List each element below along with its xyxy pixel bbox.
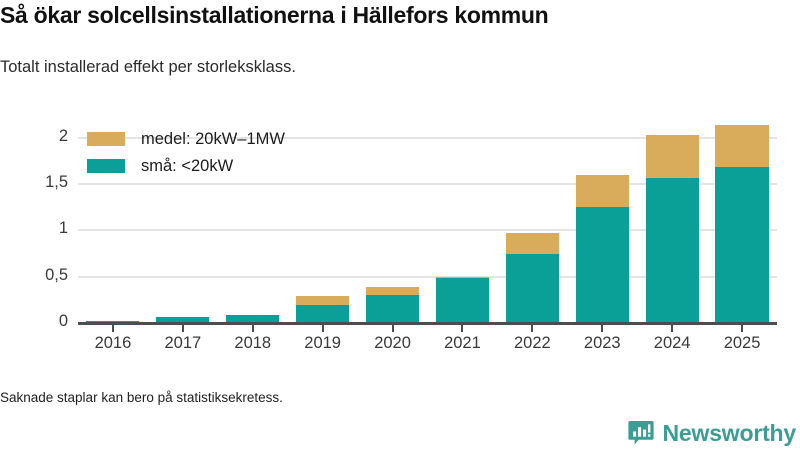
bar-chart-bubble-icon bbox=[628, 420, 654, 446]
bar-segment-sma[interactable] bbox=[366, 295, 419, 322]
bar-segment-sma[interactable] bbox=[576, 207, 629, 322]
bar-segment-sma[interactable] bbox=[226, 315, 279, 322]
y-axis-tick-label: 0 bbox=[0, 312, 68, 331]
bar-group-2020[interactable] bbox=[366, 287, 419, 322]
x-axis-tick-label: 2022 bbox=[514, 334, 551, 353]
x-axis-tick bbox=[252, 323, 254, 332]
x-axis-tick-label: 2017 bbox=[164, 334, 201, 353]
y-axis-tick-label: 0,5 bbox=[0, 266, 68, 285]
x-axis-tick bbox=[671, 323, 673, 332]
x-axis-tick-label: 2021 bbox=[444, 334, 481, 353]
bar-segment-medel[interactable] bbox=[366, 287, 419, 295]
legend-swatch-medel bbox=[87, 132, 125, 146]
x-axis: 2016201720182019202020212022202320242025 bbox=[78, 322, 777, 366]
bar-group-2025[interactable] bbox=[715, 125, 768, 322]
bar-group-2023[interactable] bbox=[576, 175, 629, 322]
y-axis-tick-label: 1,5 bbox=[0, 173, 68, 192]
legend-item-label: medel: 20kW–1MW bbox=[141, 130, 285, 149]
legend-item-label: små: <20kW bbox=[141, 157, 233, 176]
bar-segment-sma[interactable] bbox=[296, 305, 349, 322]
newsworthy-wordmark: Newsworthy bbox=[663, 420, 796, 447]
chart-subtitle: Totalt installerad effekt per storlekskl… bbox=[0, 58, 296, 77]
chart-legend: medel: 20kW–1MWsmå: <20kW bbox=[87, 128, 285, 182]
x-axis-tick-label: 2025 bbox=[724, 334, 761, 353]
bar-segment-sma[interactable] bbox=[436, 278, 489, 322]
chart-footnote: Saknade staplar kan bero på statistiksek… bbox=[0, 390, 283, 405]
x-axis-tick bbox=[531, 323, 533, 332]
legend-swatch-sma bbox=[87, 159, 125, 173]
page-title: Så ökar solcellsinstallationerna i Hälle… bbox=[0, 2, 548, 29]
x-axis-tick-label: 2018 bbox=[234, 334, 271, 353]
x-axis-tick bbox=[741, 323, 743, 332]
x-axis-tick bbox=[601, 323, 603, 332]
bar-segment-medel[interactable] bbox=[576, 175, 629, 207]
bar-segment-sma[interactable] bbox=[715, 167, 768, 322]
newsworthy-logo: Newsworthy bbox=[628, 418, 796, 448]
bar-segment-sma[interactable] bbox=[506, 254, 559, 322]
bar-segment-medel[interactable] bbox=[715, 125, 768, 167]
y-axis-tick-label: 2 bbox=[0, 127, 68, 146]
x-axis-tick bbox=[322, 323, 324, 332]
x-axis-tick-label: 2019 bbox=[304, 334, 341, 353]
bar-segment-sma[interactable] bbox=[646, 178, 699, 322]
bar-segment-medel[interactable] bbox=[646, 135, 699, 179]
x-axis-tick bbox=[182, 323, 184, 332]
bar-segment-medel[interactable] bbox=[296, 296, 349, 305]
bar-segment-medel[interactable] bbox=[506, 233, 559, 254]
bar-group-2018[interactable] bbox=[226, 315, 279, 322]
x-axis-tick-label: 2023 bbox=[584, 334, 621, 353]
bar-group-2022[interactable] bbox=[506, 233, 559, 322]
x-axis-tick bbox=[461, 323, 463, 332]
bar-group-2024[interactable] bbox=[646, 135, 699, 322]
x-axis-tick-label: 2024 bbox=[654, 334, 691, 353]
x-axis-tick-label: 2020 bbox=[374, 334, 411, 353]
legend-item[interactable]: små: <20kW bbox=[87, 155, 285, 177]
y-axis-tick-label: 1 bbox=[0, 219, 68, 238]
bar-group-2019[interactable] bbox=[296, 296, 349, 322]
bar-group-2021[interactable] bbox=[436, 277, 489, 322]
x-axis-tick-label: 2016 bbox=[95, 334, 132, 353]
x-axis-tick bbox=[112, 323, 114, 332]
x-axis-tick bbox=[392, 323, 394, 332]
legend-item[interactable]: medel: 20kW–1MW bbox=[87, 128, 285, 150]
